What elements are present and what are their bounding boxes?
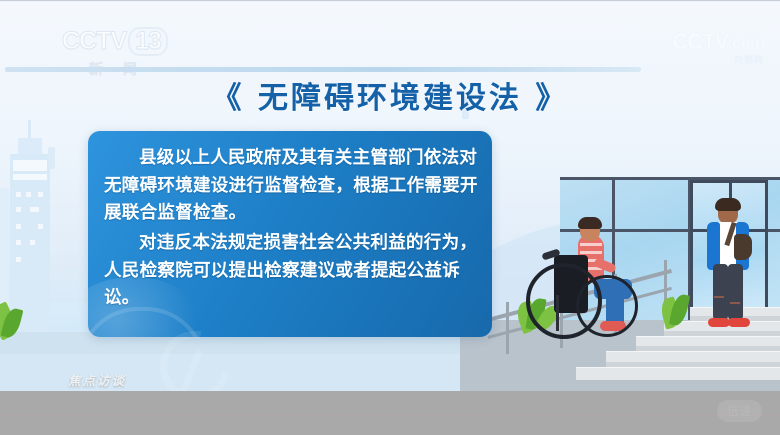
wheelchair-user-illustration: [520, 217, 660, 347]
watermark-suffix: .com: [728, 34, 764, 53]
pedestrian-illustration: [700, 192, 760, 337]
page-title: 《 无障碍环境建设法 》: [0, 73, 780, 117]
cctv-com-watermark: CCTV.com 央视网: [672, 29, 764, 66]
law-excerpt-body: 县级以上人民政府及其有关主管部门依法对无障碍环境建设进行监督检查，根据工作需要开…: [88, 131, 492, 313]
playback-speed-button[interactable]: 倍速: [717, 400, 762, 422]
channel-logo: CCTV13 新 闻: [62, 27, 172, 71]
watermark-main: CCTV: [672, 29, 728, 54]
channel-logo-name: CCTV: [62, 27, 126, 55]
video-player-screen: CCTV13 新 闻 CCTV.com 央视网 《 无障碍环境建设法 》 县级以…: [0, 0, 780, 435]
channel-logo-number: 13: [128, 27, 168, 56]
law-excerpt-card: 县级以上人民政府及其有关主管部门依法对无障碍环境建设进行监督检查，根据工作需要开…: [88, 131, 492, 337]
player-control-bar[interactable]: [0, 391, 780, 435]
rule-tick-left: [48, 147, 55, 169]
player-progress-track[interactable]: [0, 415, 780, 416]
law-paragraph-1: 县级以上人民政府及其有关主管部门依法对无障碍环境建设进行监督检查，根据工作需要开…: [104, 145, 478, 228]
law-paragraph-2: 对违反本法规定损害社会公共利益的行为，人民检察院可以提出检察建议或者提起公益诉讼…: [104, 230, 478, 313]
program-name-label: 焦点访谈: [68, 370, 126, 389]
watermark-cn: 央视网: [672, 53, 764, 66]
header-divider-rule: [5, 67, 641, 72]
